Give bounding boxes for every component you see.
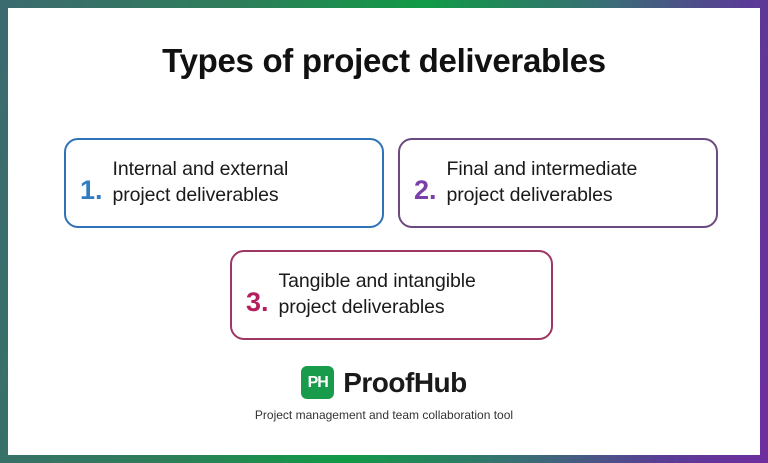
deliverable-card-2: 2. Final and intermediate project delive… [398, 138, 718, 228]
infographic-content: Types of project deliverables 1. Interna… [8, 8, 760, 455]
card-2-line-2: project deliverables [447, 184, 613, 206]
card-1-text: Internal and external project deliverabl… [113, 157, 289, 208]
card-2-text: Final and intermediate project deliverab… [447, 157, 638, 208]
card-3-line-1: Tangible and intangible [279, 270, 476, 292]
infographic-canvas: Types of project deliverables 1. Interna… [0, 0, 768, 463]
brand-tagline: Project management and team collaboratio… [255, 408, 513, 422]
deliverable-card-1: 1. Internal and external project deliver… [64, 138, 384, 228]
brand-footer: PH ProofHub Project management and team … [8, 366, 760, 422]
card-3-line-2: project deliverables [279, 296, 445, 318]
card-3-text: Tangible and intangible project delivera… [279, 269, 476, 320]
brand-name: ProofHub [343, 367, 467, 399]
card-2-line-1: Final and intermediate [447, 158, 638, 180]
deliverable-card-3: 3. Tangible and intangible project deliv… [230, 250, 553, 340]
page-title: Types of project deliverables [8, 42, 760, 80]
card-1-number: 1. [80, 163, 103, 204]
card-2-number: 2. [414, 163, 437, 204]
proofhub-logo-icon: PH [301, 366, 334, 399]
card-1-line-1: Internal and external [113, 158, 289, 180]
brand-lockup: PH ProofHub [301, 366, 467, 399]
card-1-line-2: project deliverables [113, 184, 279, 206]
card-3-number: 3. [246, 275, 269, 316]
